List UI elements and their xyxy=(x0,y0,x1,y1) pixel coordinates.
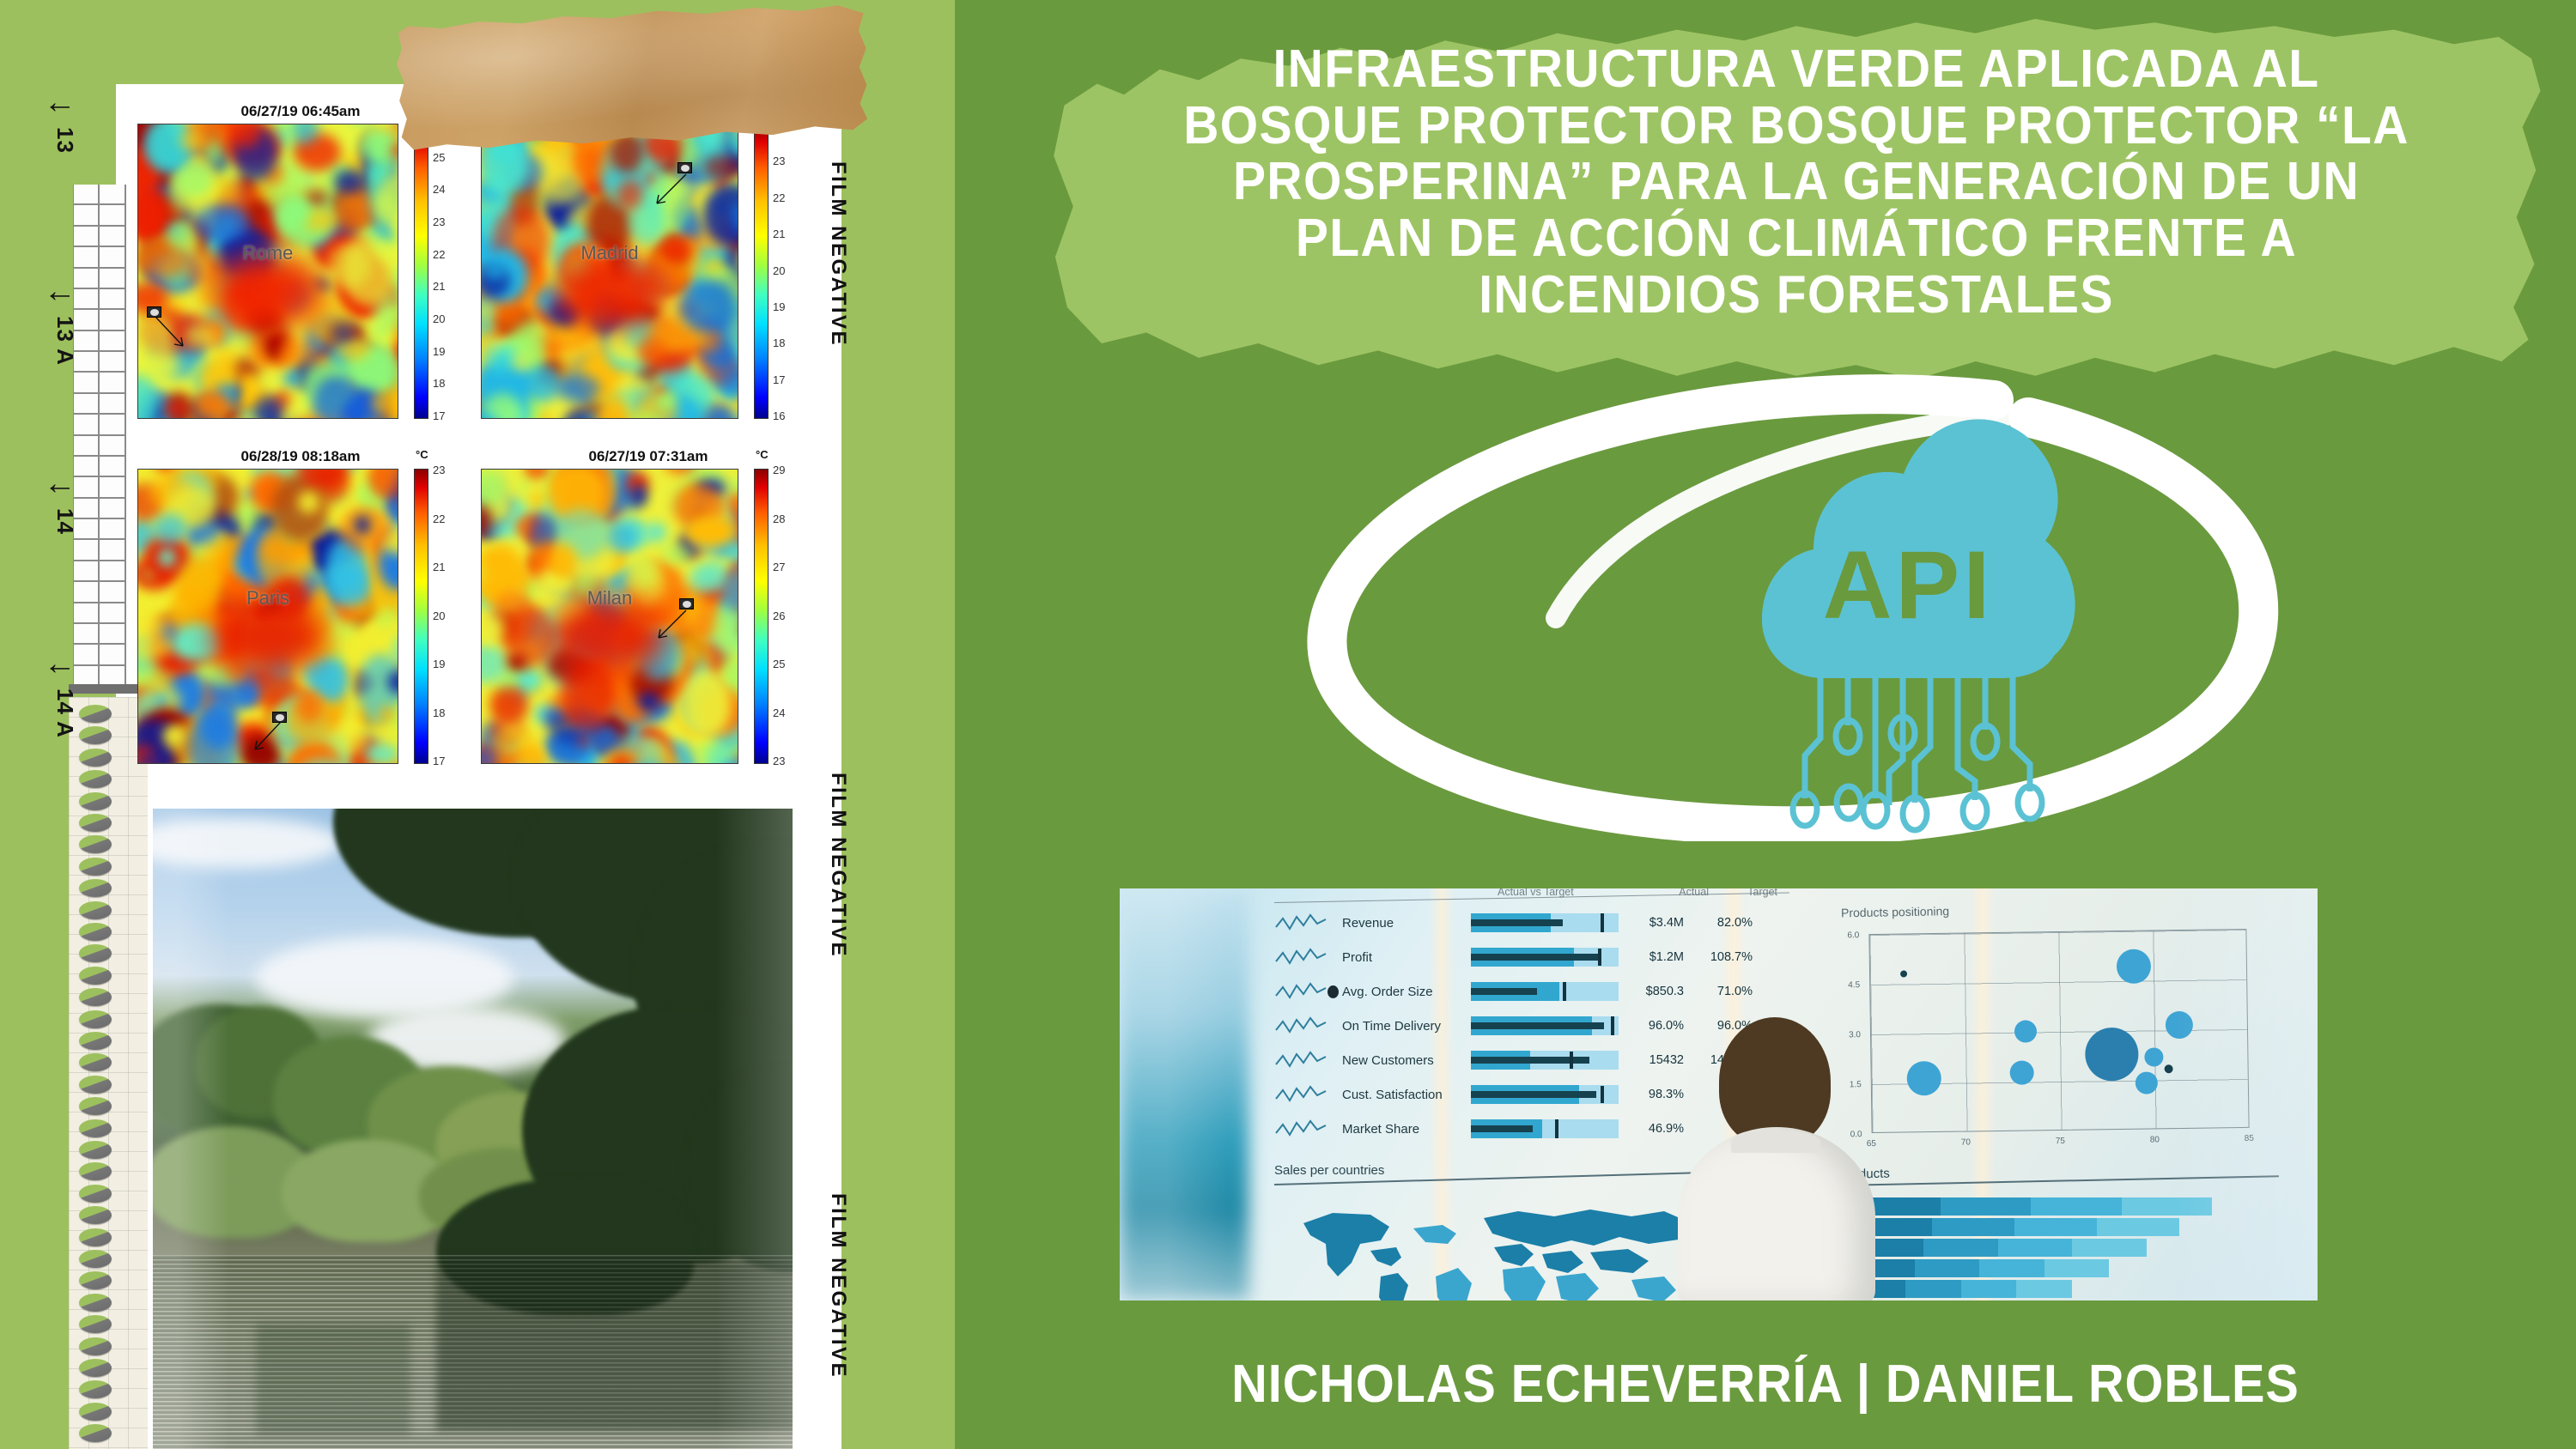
spiral-ring xyxy=(79,944,112,962)
thermal-pixel-blob xyxy=(550,543,576,579)
bubble-point xyxy=(2085,1027,2139,1081)
frame-arrow-icon: ↓ xyxy=(46,481,78,497)
api-label: API xyxy=(1676,537,2140,634)
thermal-pixel-blob xyxy=(637,336,666,362)
frame-arrow-icon: ↓ xyxy=(46,288,78,305)
spiral-ring xyxy=(79,1119,112,1137)
frame-arrow-icon: ↓ xyxy=(46,100,78,116)
thermal-unit-label: °C xyxy=(756,448,769,461)
colorbar-tick: 17 xyxy=(433,409,445,422)
kpi-bullet-chart xyxy=(1471,948,1619,967)
thermal-city-label: Madrid xyxy=(482,242,738,264)
thermal-pointer-arrow-icon xyxy=(154,315,195,356)
thermal-pixel-blob xyxy=(516,519,530,533)
photo-blur-left-edge xyxy=(1120,888,1249,1300)
kpi-dot-placeholder xyxy=(1327,1054,1339,1067)
kpi-dot-placeholder xyxy=(1327,1020,1339,1033)
forest-lake-photo xyxy=(153,809,793,1449)
colorbar-tick: 20 xyxy=(433,609,445,622)
spiral-ring xyxy=(79,879,112,897)
bubble-point xyxy=(2144,1048,2163,1067)
thermal-pixel-blob xyxy=(661,543,693,564)
kpi-dot-placeholder xyxy=(1327,917,1339,930)
thermal-urban-heat-core xyxy=(553,598,665,675)
spiral-ring xyxy=(79,705,112,723)
kpi-row: Profit$1.2M108.7% xyxy=(1274,940,1789,974)
thermal-pixel-blob xyxy=(295,690,323,724)
thermal-pixel-blob xyxy=(137,375,159,419)
thermal-pixel-blob xyxy=(679,280,736,332)
bubble-point xyxy=(2166,1011,2193,1039)
title-line-4: PLAN DE ACCIÓN CLIMÁTICO FRENTE A xyxy=(1125,210,2468,267)
thermal-pixel-blob xyxy=(538,411,552,419)
thermal-pixel-blob xyxy=(606,524,638,552)
sales-map-title: Sales per countries xyxy=(1274,1163,1738,1178)
colorbar-tick: 22 xyxy=(773,191,785,204)
colorbar-tick: 18 xyxy=(433,377,445,390)
spiral-ring xyxy=(79,1250,112,1268)
person-viewing-dashboard xyxy=(1678,1017,1875,1300)
kpi-bullet-chart xyxy=(1471,1016,1619,1035)
film-perforation-strip xyxy=(73,185,126,687)
right-content-panel: INFRAESTRUCTURA VERDE APLICADA AL BOSQUE… xyxy=(955,0,2576,1449)
kpi-column-headers: Actual vs Target Actual Target xyxy=(1498,888,1781,898)
kpi-actual-value: $1.2M xyxy=(1619,950,1684,964)
film-negative-label-3: FILM NEGATIVE xyxy=(826,1193,850,1379)
kpi-name: New Customers xyxy=(1342,1053,1471,1068)
thermal-colorbar-ticks: 29282726252423 xyxy=(773,464,785,767)
title-line-3: PROSPERINA” PARA LA GENERACIÓN DE UN xyxy=(1125,154,2468,210)
spiral-ring xyxy=(79,726,112,744)
thermal-city-label: Milan xyxy=(482,587,738,609)
thermal-pixel-blob xyxy=(578,736,592,748)
thermal-pixel-blob xyxy=(682,672,732,737)
colorbar-tick: 18 xyxy=(773,336,785,349)
spiral-ring xyxy=(79,749,112,767)
thermal-pixel-blob xyxy=(283,372,301,385)
bubble-point xyxy=(2135,1072,2157,1094)
spiral-ring xyxy=(79,1076,112,1094)
thermal-colorbar xyxy=(754,469,769,764)
thermal-map-image: Paris xyxy=(137,469,398,764)
bubble-y-tick: 6.0 xyxy=(1847,931,1859,940)
colorbar-tick: 21 xyxy=(433,280,445,293)
poster-canvas: ↓ 13 ↓ 13 A ↓ 14 ↓ 14 A FILM NEGATIVE FI… xyxy=(0,0,2576,1449)
perf-strip-cap xyxy=(69,684,139,694)
bubble-point xyxy=(2116,949,2151,985)
thermal-pixel-blob xyxy=(495,301,525,329)
bubble-y-tick: 4.5 xyxy=(1848,980,1860,990)
spiral-ring xyxy=(79,1424,112,1442)
spiral-ring xyxy=(79,858,112,876)
kpi-actual-value: 98.3% xyxy=(1619,1088,1684,1101)
kpi-row: Revenue$3.4M82.0% xyxy=(1274,906,1789,940)
spiral-ring xyxy=(79,1053,112,1071)
colorbar-tick: 29 xyxy=(773,464,785,476)
kpi-name: On Time Delivery xyxy=(1342,1019,1471,1034)
products-positioning-chart: Products positioning 6.04.53.01.50.06570… xyxy=(1841,902,2270,1160)
kpi-target-value: 108.7% xyxy=(1684,950,1753,964)
thermal-pixel-blob xyxy=(512,353,530,372)
thermal-pixel-blob xyxy=(256,369,284,392)
kpi-dot-placeholder xyxy=(1327,1088,1339,1101)
thermal-pixel-blob xyxy=(365,743,398,764)
thermal-colorbar-ticks: 26252423222120191817 xyxy=(433,118,445,422)
colorbar-tick: 21 xyxy=(433,561,445,573)
thermal-pixel-blob xyxy=(153,513,187,544)
colorbar-tick: 16 xyxy=(773,409,785,422)
kpi-actual-value: $3.4M xyxy=(1619,916,1684,930)
thermal-pixel-blob xyxy=(518,743,544,764)
kpi-header-actual-vs-target: Actual vs Target xyxy=(1498,888,1643,898)
spiral-ring xyxy=(79,901,112,919)
thermal-pixel-blob xyxy=(490,687,528,724)
kpi-name: Market Share xyxy=(1342,1122,1471,1137)
spiral-ring xyxy=(79,1162,112,1180)
thermal-colorbar-ticks: 23222120191817 xyxy=(433,464,445,767)
bubble-plot-area: 6.04.53.01.50.06570758085 xyxy=(1868,929,2249,1133)
colorbar-tick: 23 xyxy=(773,155,785,167)
colorbar-tick: 27 xyxy=(773,561,785,573)
bubble-chart-title: Products positioning xyxy=(1841,899,2270,920)
colorbar-tick: 23 xyxy=(433,464,445,476)
sparkline-icon xyxy=(1274,980,1327,1003)
kpi-actual-value: 46.9% xyxy=(1619,1122,1684,1136)
colorbar-tick: 24 xyxy=(773,706,785,719)
spiral-ring xyxy=(79,1141,112,1159)
colorbar-tick: 23 xyxy=(773,755,785,767)
kpi-target-value: 71.0% xyxy=(1684,985,1753,998)
kpi-name: Cust. Satisfaction xyxy=(1342,1088,1471,1102)
bubble-x-tick: 80 xyxy=(2150,1135,2160,1144)
thermal-urban-heat-core xyxy=(211,253,325,330)
thermal-pixel-blob xyxy=(655,392,677,411)
thermal-pixel-blob xyxy=(703,155,738,180)
thermal-map-milan: 06/27/19 07:31am °C Milan 29282726252423 xyxy=(481,448,816,766)
spiral-ring xyxy=(79,792,112,810)
perf-center-line xyxy=(98,185,100,687)
spiral-ring xyxy=(79,1359,112,1377)
colorbar-tick: 18 xyxy=(433,706,445,719)
sparkline-icon xyxy=(1274,1015,1327,1037)
thermal-urban-heat-core xyxy=(211,598,325,675)
thermal-pixel-blob xyxy=(738,333,738,374)
thermal-pixel-blob xyxy=(298,491,320,513)
thermal-pixel-blob xyxy=(355,516,370,534)
thermal-pixel-blob xyxy=(398,398,398,419)
thermal-pixel-blob xyxy=(375,610,394,627)
kpi-name: Profit xyxy=(1342,950,1471,965)
spiral-ring xyxy=(79,1228,112,1246)
colorbar-tick: 19 xyxy=(433,658,445,670)
thermal-map-grid: 06/27/19 06:45am Rome 262524232221201918… xyxy=(137,103,816,781)
spiral-ring xyxy=(79,814,112,832)
thermal-pixel-blob xyxy=(638,692,660,712)
thermal-pixel-blob xyxy=(617,179,643,209)
kpi-actual-value: 15432 xyxy=(1619,1053,1684,1067)
title-line-1: INFRAESTRUCTURA VERDE APLICADA AL xyxy=(1125,41,2468,98)
thermal-pixel-blob xyxy=(384,726,398,740)
sparkline-icon xyxy=(1274,912,1327,934)
thermal-pixel-blob xyxy=(391,144,398,156)
colorbar-tick: 25 xyxy=(773,658,785,670)
thermal-map-image: Rome xyxy=(137,124,398,419)
thermal-pixel-blob xyxy=(631,485,647,506)
sparkline-icon xyxy=(1274,1049,1327,1071)
spiral-ring xyxy=(79,923,112,941)
kpi-name: Revenue xyxy=(1342,916,1471,931)
cloud-api-icon: API xyxy=(1676,369,2140,850)
spiral-ring xyxy=(79,1380,112,1398)
kpi-dot-placeholder xyxy=(1327,951,1339,964)
kpi-bullet-chart xyxy=(1471,913,1619,932)
spiral-ring xyxy=(79,1315,112,1333)
thermal-map-image: Madrid xyxy=(481,124,738,419)
thermal-pixel-blob xyxy=(275,195,310,230)
colorbar-tick: 19 xyxy=(433,345,445,358)
thermal-pixel-blob xyxy=(268,763,325,764)
thermal-map-caption: 06/28/19 08:18am xyxy=(137,448,464,465)
frame-arrow-icon: ↓ xyxy=(46,661,78,677)
kpi-actual-value: $850.3 xyxy=(1619,985,1684,998)
colorbar-tick: 24 xyxy=(433,183,445,196)
sparkline-icon xyxy=(1274,946,1327,968)
film-negative-label-2: FILM NEGATIVE xyxy=(826,773,850,958)
thermal-pixel-blob xyxy=(684,515,737,548)
colorbar-tick: 17 xyxy=(433,755,445,767)
spiral-ring xyxy=(79,835,112,853)
sparkline-icon xyxy=(1274,1118,1327,1140)
frame-number-13: 13 xyxy=(52,127,78,154)
thermal-pixel-blob xyxy=(647,523,665,542)
left-photo-panel: ↓ 13 ↓ 13 A ↓ 14 ↓ 14 A FILM NEGATIVE FI… xyxy=(0,0,955,1449)
top10-bar xyxy=(1850,1218,2179,1236)
spiral-ring xyxy=(79,1403,112,1421)
film-negative-label-1: FILM NEGATIVE xyxy=(826,161,850,347)
thermal-pointer-arrow-icon xyxy=(246,720,284,758)
thermal-city-label: Rome xyxy=(138,242,398,264)
thermal-pixel-blob xyxy=(163,725,185,746)
spiral-ring xyxy=(79,1097,112,1115)
thermal-pixel-blob xyxy=(180,130,204,152)
world-map-graphic xyxy=(1288,1194,1735,1300)
colorbar-tick: 28 xyxy=(773,512,785,525)
title-line-2: BOSQUE PROTECTOR BOSQUE PROTECTOR “LA xyxy=(1125,98,2468,155)
bubble-point xyxy=(2165,1064,2173,1073)
thermal-pointer-arrow-icon xyxy=(648,173,690,214)
kpi-bullet-chart xyxy=(1471,1051,1619,1070)
spiral-ring xyxy=(79,1337,112,1355)
kpi-actual-value: 96.0% xyxy=(1619,1019,1684,1033)
frame-number-14: 14 xyxy=(52,508,78,535)
thermal-map-image: Milan xyxy=(481,469,738,764)
analytics-dashboard-photo: Actual vs Target Actual Target Revenue$3… xyxy=(1120,888,2318,1300)
spiral-ring xyxy=(79,1271,112,1289)
thermal-colorbar-ticks: 242322212019181716 xyxy=(773,118,785,422)
kpi-dot-placeholder xyxy=(1327,1123,1339,1136)
thermal-pixel-blob xyxy=(334,169,364,193)
spiral-notebook-binding xyxy=(69,697,148,1449)
thermal-map-paris: 06/28/19 08:18am °C Paris 23222120191817 xyxy=(137,448,464,766)
thermal-urban-heat-core xyxy=(553,253,665,330)
spiral-ring xyxy=(79,1010,112,1028)
spiral-ring xyxy=(79,1185,112,1203)
kpi-name: Avg. Order Size xyxy=(1342,985,1471,999)
bubble-x-tick: 75 xyxy=(2056,1137,2065,1146)
thermal-pixel-blob xyxy=(556,374,599,403)
top10-bar xyxy=(1850,1239,2147,1257)
kpi-bullet-chart xyxy=(1471,1119,1619,1138)
colorbar-tick: 20 xyxy=(433,312,445,325)
bubble-point xyxy=(2010,1061,2034,1085)
kpi-row: Avg. Order Size$850.371.0% xyxy=(1274,974,1789,1009)
colorbar-tick: 21 xyxy=(773,227,785,240)
thermal-colorbar xyxy=(414,124,428,419)
spiral-ring xyxy=(79,1206,112,1224)
bubble-point xyxy=(2014,1020,2036,1042)
colorbar-tick: 26 xyxy=(773,609,785,622)
frame-number-14a: 14 A xyxy=(52,688,78,738)
top10-bar xyxy=(1850,1197,2212,1216)
thermal-unit-label: °C xyxy=(416,448,428,461)
thermal-map-madrid: Madrid 242322212019181716 xyxy=(481,103,816,421)
top10-bar xyxy=(1850,1280,2072,1298)
thermal-pixel-blob xyxy=(380,706,394,722)
kpi-target-value: 82.0% xyxy=(1684,916,1753,930)
kpi-bullet-chart xyxy=(1471,982,1619,1001)
thermal-map-rome: 06/27/19 06:45am Rome 262524232221201918… xyxy=(137,103,464,421)
page-title: INFRAESTRUCTURA VERDE APLICADA AL BOSQUE… xyxy=(1125,41,2468,324)
colorbar-tick: 19 xyxy=(773,300,785,313)
sales-per-countries-map: Sales per countries xyxy=(1274,1163,1738,1300)
thermal-pixel-blob xyxy=(158,549,175,567)
kpi-header-target: Target xyxy=(1709,888,1777,898)
colorbar-tick: 23 xyxy=(433,215,445,228)
spiral-ring xyxy=(79,1294,112,1312)
thermal-pixel-blob xyxy=(503,606,557,667)
bubble-x-tick: 70 xyxy=(1961,1137,1971,1147)
spiral-ring xyxy=(79,770,112,788)
spiral-ring xyxy=(79,1032,112,1050)
thermal-pixel-blob xyxy=(193,204,252,243)
thermal-pointer-arrow-icon xyxy=(650,609,690,648)
spiral-ring xyxy=(79,988,112,1006)
thermal-colorbar xyxy=(414,469,428,764)
kpi-bullet-chart xyxy=(1471,1085,1619,1104)
colorbar-tick: 20 xyxy=(773,264,785,277)
authors-line: NICHOLAS ECHEVERRÍA | DANIEL ROBLES xyxy=(1012,1354,2519,1415)
colorbar-tick: 17 xyxy=(773,373,785,386)
colorbar-tick: 22 xyxy=(433,512,445,525)
thermal-city-label: Paris xyxy=(138,587,398,609)
colorbar-tick: 25 xyxy=(433,151,445,164)
bubble-x-tick: 85 xyxy=(2245,1134,2254,1143)
sparkline-icon xyxy=(1274,1083,1327,1106)
colorbar-tick: 22 xyxy=(433,248,445,261)
top10-bar xyxy=(1850,1259,2109,1277)
thermal-pixel-blob xyxy=(337,189,373,231)
bubble-point xyxy=(1900,970,1907,977)
thermal-pixel-blob xyxy=(278,340,319,367)
kpi-header-actual: Actual xyxy=(1643,888,1709,898)
thermal-colorbar xyxy=(754,124,769,419)
thermal-pixel-blob xyxy=(484,263,506,280)
bubble-point xyxy=(1907,1061,1942,1096)
spiral-ring xyxy=(79,967,112,985)
frame-number-13a: 13 A xyxy=(52,316,78,366)
title-line-5: INCENDIOS FORESTALES xyxy=(1125,267,2468,324)
kpi-alert-dot-icon xyxy=(1327,985,1339,998)
